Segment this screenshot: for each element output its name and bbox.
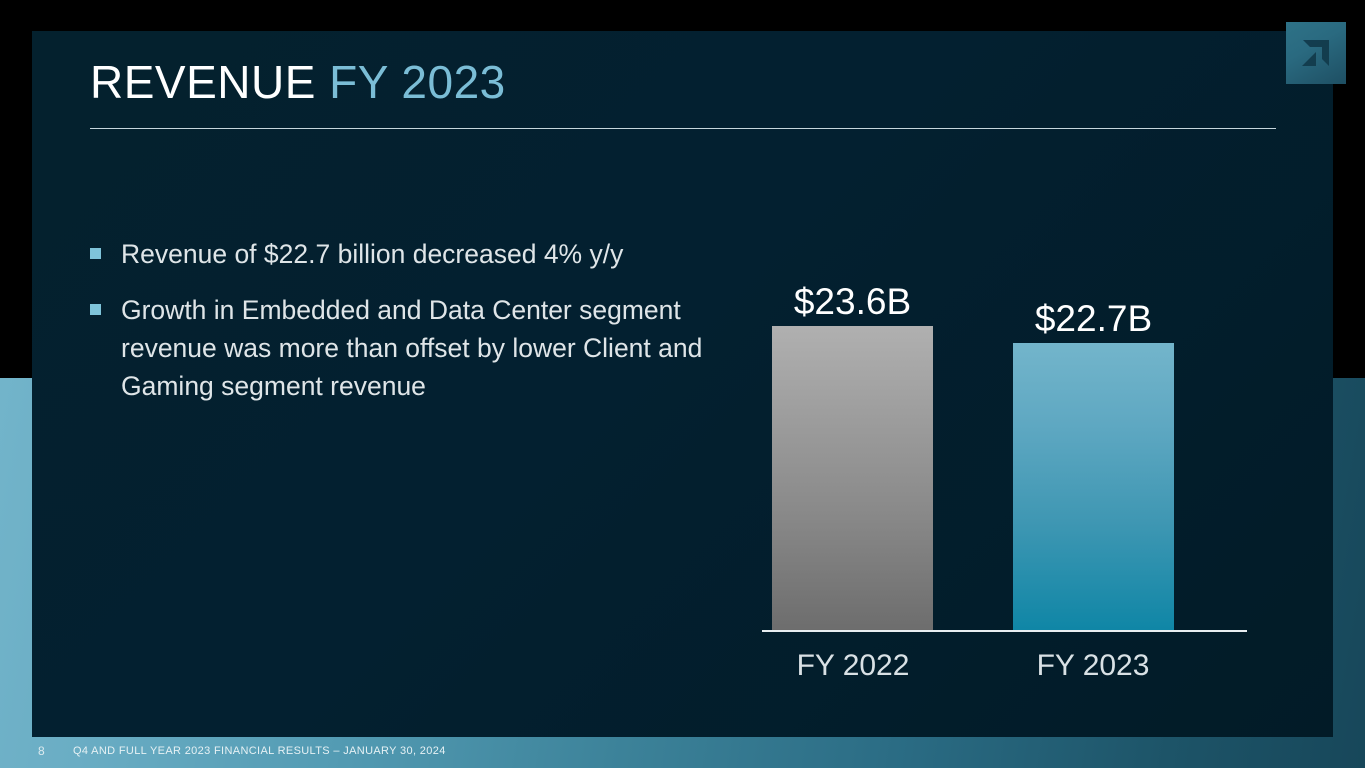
slide-panel: REVENUE FY 2023 Revenue of $22.7 billion… [32, 31, 1333, 737]
category-label-fy2022: FY 2022 [743, 649, 963, 683]
page-number: 8 [38, 744, 45, 758]
chart-axis-line [762, 630, 1247, 632]
category-label-fy2023: FY 2023 [983, 649, 1203, 683]
square-bullet-icon [90, 248, 101, 259]
list-item: Growth in Embedded and Data Center segme… [90, 291, 750, 405]
page-title-accent: FY 2023 [329, 56, 506, 108]
bar-value-label: $23.6B [794, 281, 911, 323]
list-item: Revenue of $22.7 billion decreased 4% y/… [90, 235, 750, 273]
bar-fy2023 [1013, 343, 1174, 631]
bar-value-label: $22.7B [1035, 298, 1152, 340]
bar-fy2022 [772, 326, 933, 631]
footer-text: Q4 AND FULL YEAR 2023 FINANCIAL RESULTS … [73, 745, 446, 757]
slide-footer: 8 Q4 AND FULL YEAR 2023 FINANCIAL RESULT… [0, 744, 1365, 768]
bullet-text: Revenue of $22.7 billion decreased 4% y/… [121, 235, 623, 273]
left-letterbox [0, 0, 32, 378]
slide-canvas: REVENUE FY 2023 Revenue of $22.7 billion… [0, 0, 1365, 768]
top-letterbox [0, 0, 1365, 31]
page-title-main: REVENUE [90, 56, 329, 108]
square-bullet-icon [90, 304, 101, 315]
title-divider [90, 128, 1276, 129]
revenue-bar-chart: $23.6B $22.7B FY 2022 FY 2023 [698, 231, 1258, 701]
page-title: REVENUE FY 2023 [90, 55, 506, 109]
bullet-text: Growth in Embedded and Data Center segme… [121, 291, 750, 405]
bullet-list: Revenue of $22.7 billion decreased 4% y/… [90, 235, 750, 423]
amd-logo-icon [1286, 22, 1346, 84]
